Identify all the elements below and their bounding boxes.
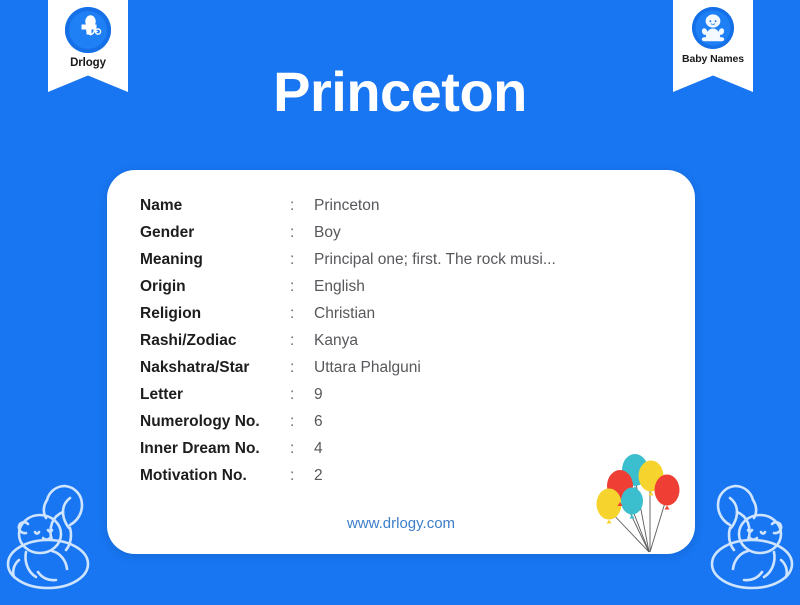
row-value: Principal one; first. The rock musi... <box>314 246 556 273</box>
row-separator: : <box>290 408 314 435</box>
table-row: Gender : Boy <box>140 219 556 246</box>
row-value: Princeton <box>314 192 556 219</box>
row-separator: : <box>290 327 314 354</box>
row-label: Letter <box>140 381 290 408</box>
row-label: Numerology No. <box>140 408 290 435</box>
row-value: 6 <box>314 408 556 435</box>
row-label: Meaning <box>140 246 290 273</box>
row-value: Uttara Phalguni <box>314 354 556 381</box>
baby-icon <box>692 7 734 49</box>
row-value: 4 <box>314 435 556 462</box>
table-row: Nakshatra/Star : Uttara Phalguni <box>140 354 556 381</box>
table-row: Origin : English <box>140 273 556 300</box>
table-row: Name : Princeton <box>140 192 556 219</box>
row-label: Origin <box>140 273 290 300</box>
table-row: Rashi/Zodiac : Kanya <box>140 327 556 354</box>
mother-and-baby-icon-left <box>2 468 106 600</box>
row-value: 2 <box>314 462 556 489</box>
table-row: Meaning : Principal one; first. The rock… <box>140 246 556 273</box>
name-details-card: Name : Princeton Gender : Boy Meaning : … <box>107 170 695 554</box>
row-separator: : <box>290 192 314 219</box>
balloons-icon <box>593 448 689 554</box>
table-row: Inner Dream No. : 4 <box>140 435 556 462</box>
row-label: Rashi/Zodiac <box>140 327 290 354</box>
table-row: Numerology No. : 6 <box>140 408 556 435</box>
row-value: Christian <box>314 300 556 327</box>
row-separator: : <box>290 354 314 381</box>
row-separator: : <box>290 219 314 246</box>
page-title: Princeton <box>0 64 800 120</box>
row-value: English <box>314 273 556 300</box>
name-details-table: Name : Princeton Gender : Boy Meaning : … <box>140 192 556 489</box>
row-label: Nakshatra/Star <box>140 354 290 381</box>
row-value: Kanya <box>314 327 556 354</box>
row-label: Gender <box>140 219 290 246</box>
row-value: Boy <box>314 219 556 246</box>
row-label: Religion <box>140 300 290 327</box>
mother-and-baby-icon-right <box>694 468 798 600</box>
row-separator: : <box>290 273 314 300</box>
table-row: Motivation No. : 2 <box>140 462 556 489</box>
row-separator: : <box>290 381 314 408</box>
doctor-medical-cross-icon <box>65 7 111 53</box>
row-separator: : <box>290 435 314 462</box>
row-value: 9 <box>314 381 556 408</box>
row-label: Motivation No. <box>140 462 290 489</box>
row-separator: : <box>290 300 314 327</box>
row-label: Name <box>140 192 290 219</box>
table-row: Religion : Christian <box>140 300 556 327</box>
table-row: Letter : 9 <box>140 381 556 408</box>
row-separator: : <box>290 246 314 273</box>
row-separator: : <box>290 462 314 489</box>
row-label: Inner Dream No. <box>140 435 290 462</box>
